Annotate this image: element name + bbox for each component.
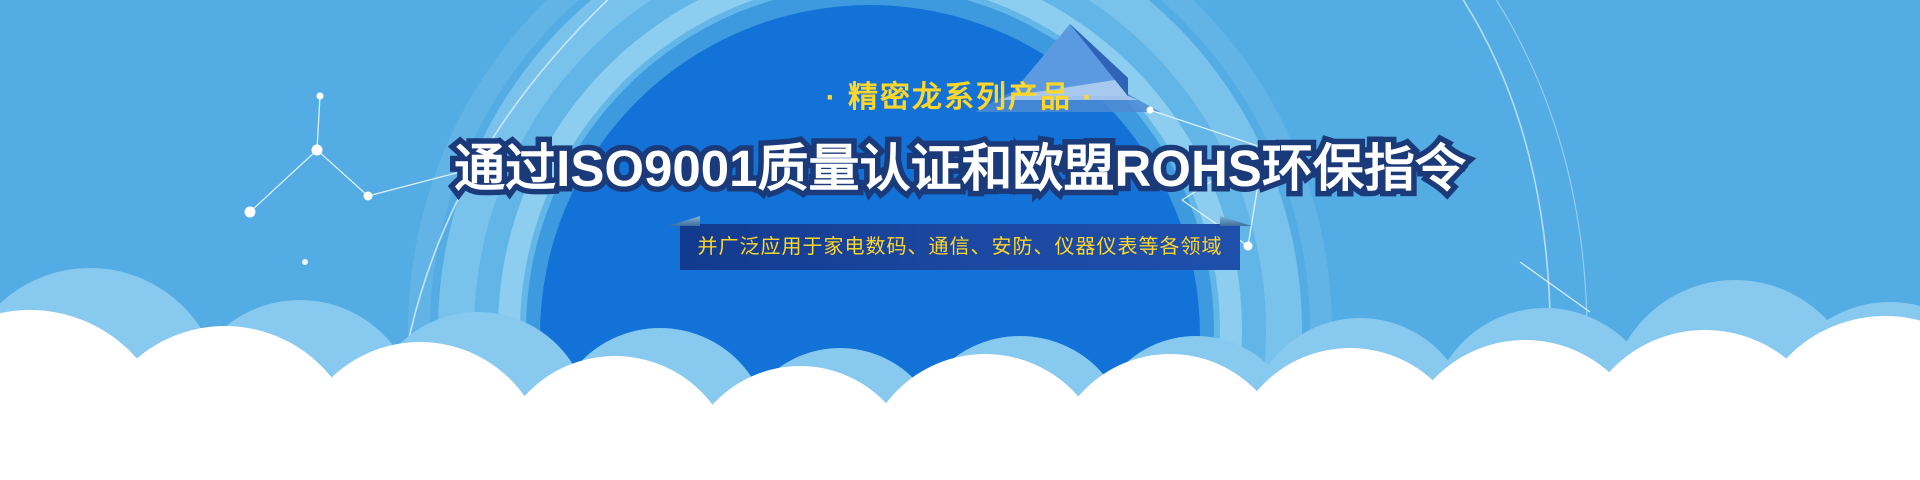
promo-banner: · 精密龙系列产品 · 通过ISO9001质量认证和欧盟ROHS环保指令 通过I… [0, 0, 1920, 480]
cloud-band [0, 0, 1920, 480]
